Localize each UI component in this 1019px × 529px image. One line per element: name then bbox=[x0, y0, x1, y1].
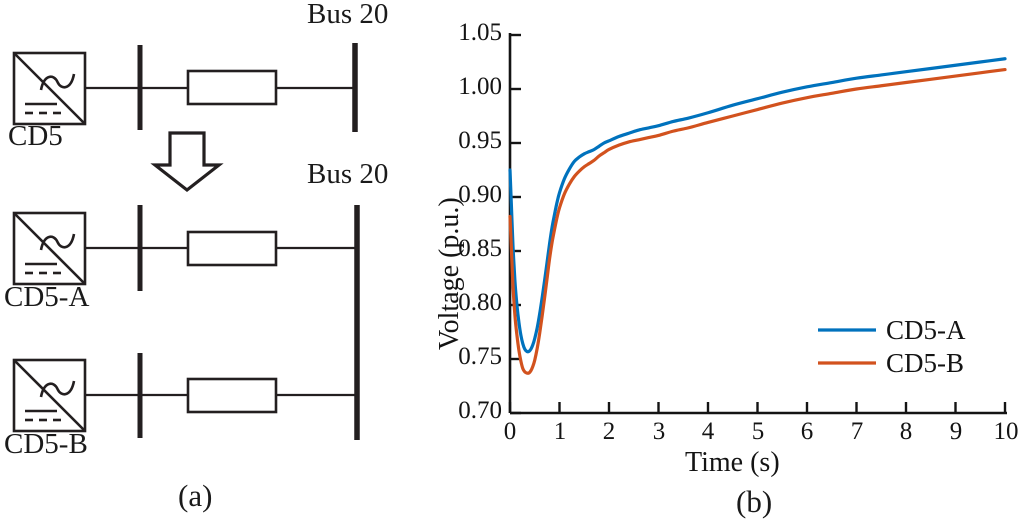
x-tick-label-2: 2 bbox=[589, 418, 629, 446]
subfigure-caption-b: (b) bbox=[736, 484, 772, 520]
y-axis-title: Voltage (p.u.) bbox=[434, 197, 466, 350]
x-tick-marks bbox=[510, 402, 1005, 413]
x-tick-label-7: 7 bbox=[837, 418, 877, 446]
x-axis-title: Time (s) bbox=[685, 447, 780, 479]
legend-swatches bbox=[818, 330, 876, 363]
device-label-cd5a: CD5-A bbox=[4, 281, 89, 314]
y-tick-label-1.00: 1.00 bbox=[420, 73, 502, 101]
y-tick-label-1.05: 1.05 bbox=[420, 19, 502, 47]
y-tick-label-0.95: 0.95 bbox=[420, 127, 502, 155]
bus20-label-bottom: Bus 20 bbox=[307, 158, 388, 191]
x-tick-label-3: 3 bbox=[639, 418, 679, 446]
x-tick-label-10: 10 bbox=[983, 418, 1019, 446]
inverter-icon-cd5 bbox=[14, 53, 85, 124]
x-tick-label-6: 6 bbox=[787, 418, 827, 446]
x-tick-label-9: 9 bbox=[936, 418, 976, 446]
impedance-block-icon-top bbox=[188, 71, 276, 104]
device-label-cd5: CD5 bbox=[8, 120, 63, 153]
legend-label-cd5a: CD5-A bbox=[886, 315, 966, 346]
legend-label-cd5b: CD5-B bbox=[886, 348, 964, 379]
inverter-icon-cd5a bbox=[14, 213, 85, 284]
x-tick-label-5: 5 bbox=[738, 418, 778, 446]
impedance-block-icon-cd5a bbox=[188, 232, 276, 265]
bus20-label-top: Bus 20 bbox=[307, 0, 388, 31]
subfigure-b-chart: 1.05 1.00 0.95 0.90 0.85 0.80 0.75 0.70 … bbox=[420, 0, 1019, 529]
x-tick-label-4: 4 bbox=[688, 418, 728, 446]
series-line-cd5-a bbox=[510, 59, 1005, 352]
x-tick-label-0: 0 bbox=[490, 418, 530, 446]
down-arrow-icon bbox=[155, 133, 219, 190]
subfigure-caption-a: (a) bbox=[178, 478, 212, 514]
figure-root: Bus 20 CD5 Bus 20 CD5-A CD5-B (a) 1.05 1… bbox=[0, 0, 1019, 529]
impedance-block-icon-cd5b bbox=[188, 379, 276, 412]
x-tick-label-8: 8 bbox=[886, 418, 926, 446]
inverter-icon-cd5b bbox=[14, 360, 85, 431]
device-label-cd5b: CD5-B bbox=[4, 428, 88, 461]
subfigure-a-diagram: Bus 20 CD5 Bus 20 CD5-A CD5-B (a) bbox=[0, 0, 420, 529]
x-tick-label-1: 1 bbox=[540, 418, 580, 446]
